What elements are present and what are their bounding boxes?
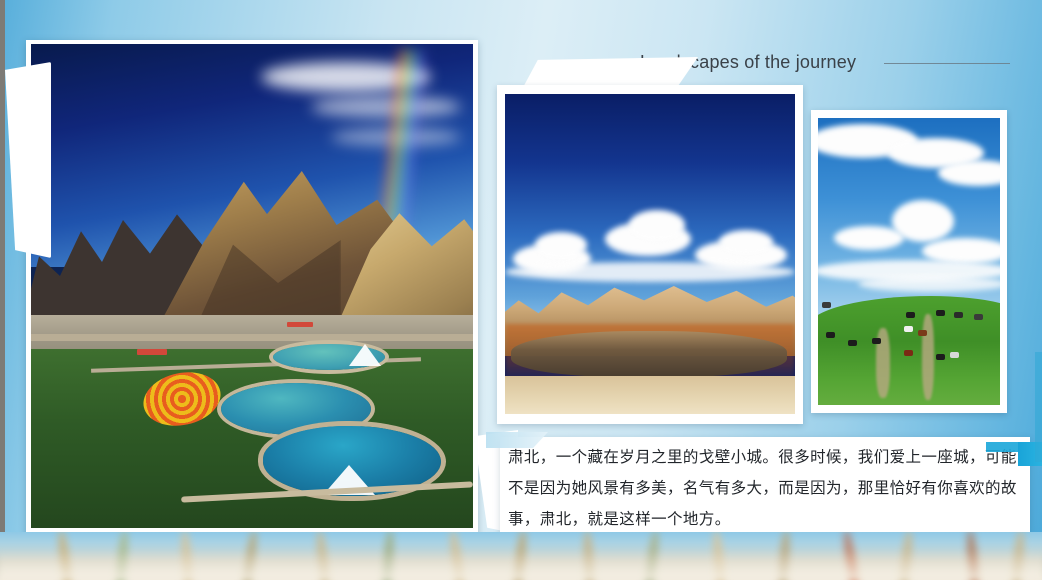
cloud-icon bbox=[535, 232, 587, 258]
photo-desert-canyon-reflection bbox=[505, 94, 795, 414]
cow-icon bbox=[936, 310, 945, 316]
right-edge-accent bbox=[1035, 352, 1042, 462]
cloud-band bbox=[858, 276, 1000, 292]
cow-icon bbox=[872, 338, 881, 344]
reflective-lake bbox=[511, 331, 787, 377]
cloud-icon bbox=[719, 230, 773, 254]
cow-icon bbox=[950, 352, 959, 358]
cow-icon bbox=[974, 314, 983, 320]
photo-frame-grassland-cattle[interactable] bbox=[811, 110, 1007, 413]
presentation-slide: Landscapes of the journey bbox=[0, 0, 1042, 580]
photo-frame-desert-canyon-reflection[interactable] bbox=[497, 85, 803, 424]
cloud-wisp-icon bbox=[311, 96, 461, 118]
cow-icon bbox=[906, 312, 915, 318]
cloud-icon bbox=[834, 226, 904, 250]
cow-icon bbox=[954, 312, 963, 318]
photo-frame-aerial-lake-park[interactable] bbox=[26, 40, 478, 538]
cow-icon bbox=[936, 354, 945, 360]
sky-region bbox=[505, 94, 795, 324]
cow-icon bbox=[904, 350, 913, 356]
cow-icon bbox=[822, 302, 831, 308]
cow-icon bbox=[918, 330, 927, 336]
tent-sail-icon bbox=[349, 344, 381, 366]
photo-grassland-cattle bbox=[818, 118, 1000, 405]
dirt-path bbox=[922, 314, 934, 400]
cloud-band bbox=[505, 262, 795, 282]
cloud-icon bbox=[629, 210, 685, 240]
photo-aerial-lake-park bbox=[31, 44, 473, 528]
cow-icon bbox=[826, 332, 835, 338]
road-horizontal bbox=[31, 334, 473, 341]
left-edge-strip bbox=[0, 0, 5, 580]
title-divider bbox=[884, 63, 1010, 64]
caption-text: 肃北，一个藏在岁月之里的戈壁小城。很多时候，我们爱上一座城，可能不是因为她风景有… bbox=[508, 442, 1020, 535]
cow-icon bbox=[904, 326, 913, 332]
salt-flat-foreground bbox=[505, 376, 795, 414]
decorative-ribbon-left bbox=[5, 62, 51, 258]
building-cluster bbox=[137, 349, 167, 355]
bottom-reeds-band bbox=[0, 532, 1042, 580]
caption-tab-accent bbox=[986, 442, 1020, 452]
building-cluster bbox=[287, 322, 313, 327]
cow-icon bbox=[848, 340, 857, 346]
